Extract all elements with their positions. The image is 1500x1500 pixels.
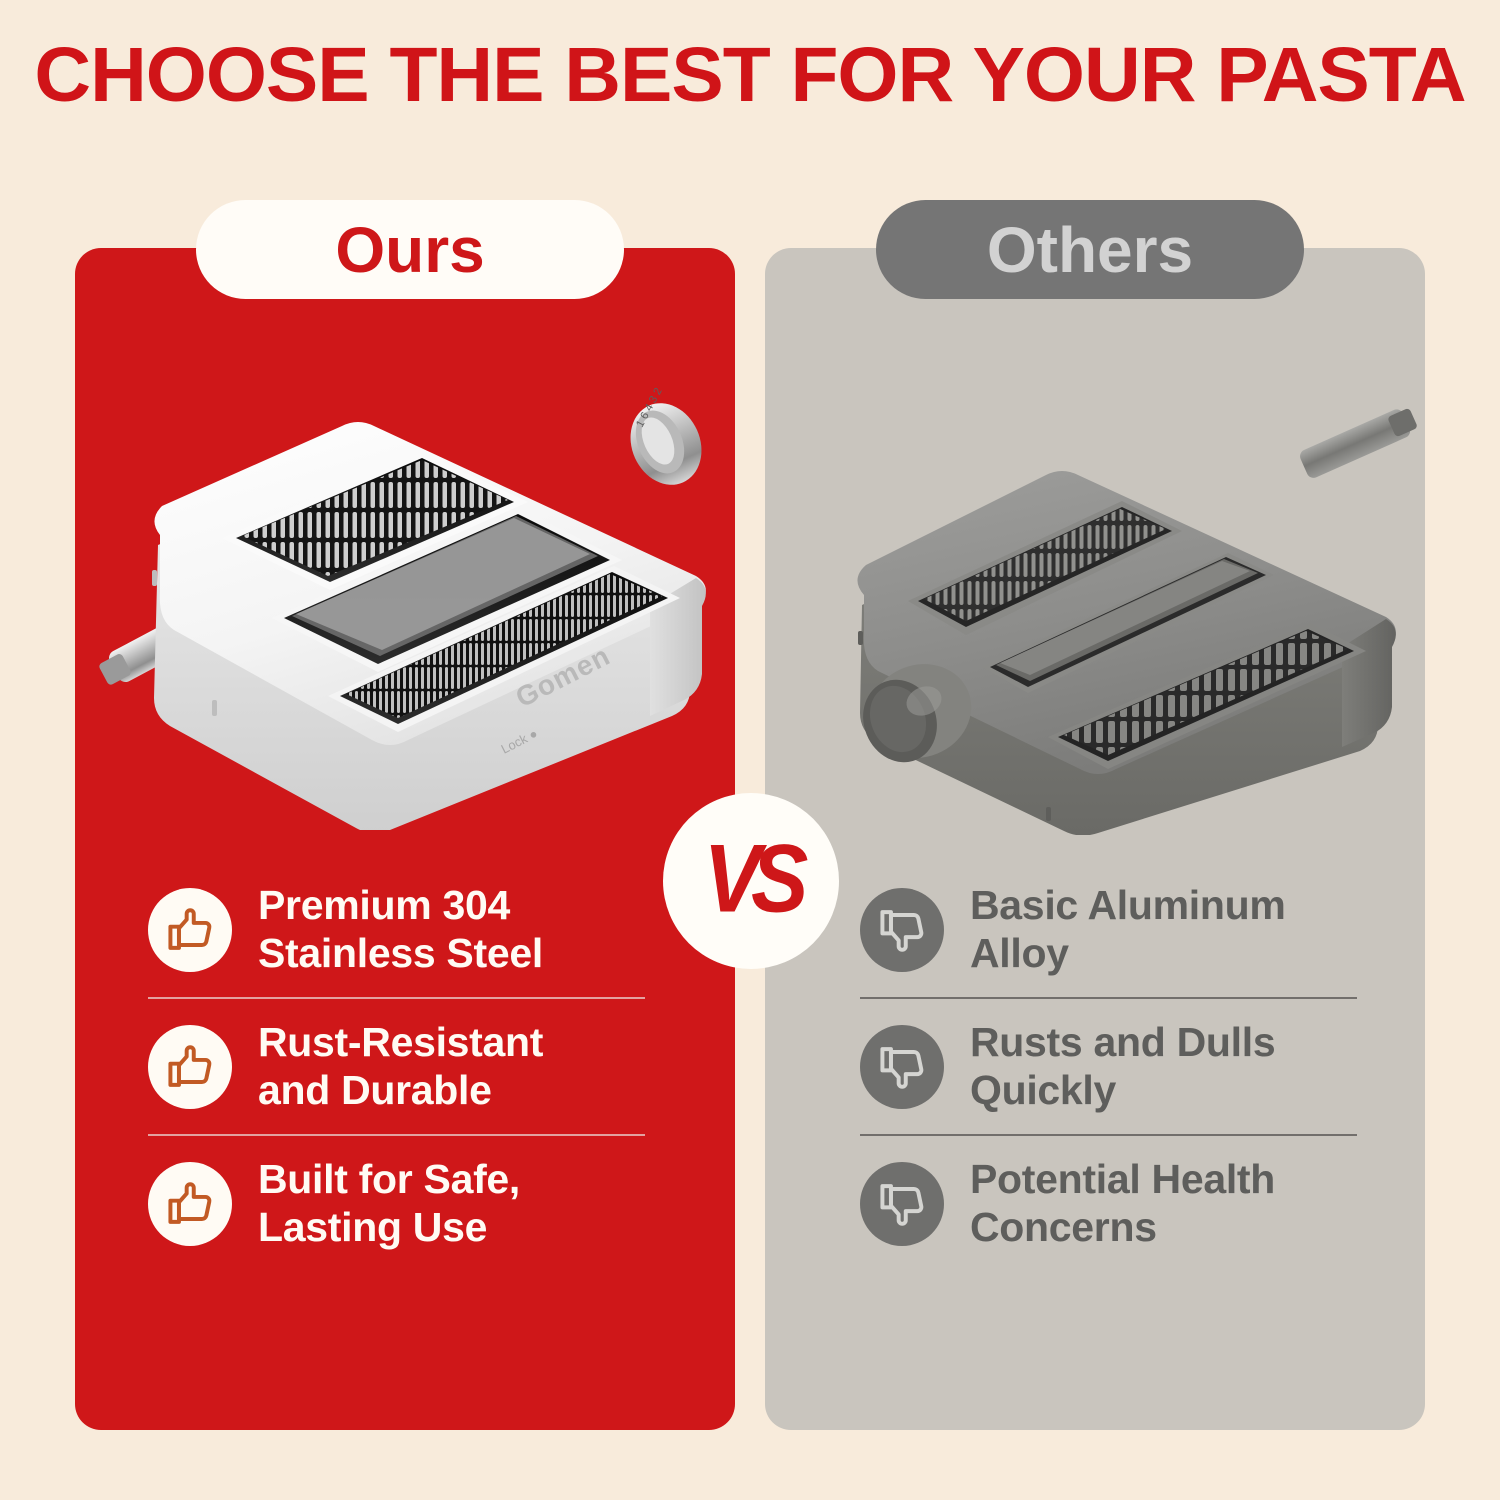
page-title: CHOOSE THE BEST FOR YOUR PASTA	[0, 34, 1500, 117]
others-badge-label: Others	[987, 213, 1193, 287]
feature-row: Premium 304 Stainless Steel	[148, 862, 648, 997]
ours-badge: Ours	[196, 200, 624, 299]
feature-line-2: Stainless Steel	[258, 930, 543, 976]
thumbs-down-icon	[860, 888, 944, 972]
feature-row: Basic Aluminum Alloy	[860, 862, 1370, 997]
feature-divider	[860, 1134, 1357, 1136]
thumbs-up-icon	[148, 888, 232, 972]
feature-divider	[860, 997, 1357, 999]
ours-badge-label: Ours	[335, 213, 484, 287]
feature-line-1: Potential Health	[970, 1156, 1275, 1202]
ours-product-image: 1 6 4 3 2 Gomen Lock ●	[90, 330, 720, 830]
thumbs-up-icon	[148, 1025, 232, 1109]
feature-label: Potential Health Concerns	[970, 1156, 1275, 1251]
feature-line-2: Lasting Use	[258, 1204, 487, 1250]
feature-line-2: Alloy	[970, 930, 1069, 976]
others-product-image	[830, 355, 1430, 835]
feature-label: Basic Aluminum Alloy	[970, 882, 1286, 977]
vs-badge: VS	[663, 793, 839, 969]
feature-label: Premium 304 Stainless Steel	[258, 882, 543, 977]
feature-line-2: Quickly	[970, 1067, 1116, 1113]
feature-line-1: Built for Safe,	[258, 1156, 520, 1202]
feature-divider	[148, 1134, 645, 1136]
feature-line-1: Basic Aluminum	[970, 882, 1286, 928]
feature-line-2: and Durable	[258, 1067, 492, 1113]
feature-line-1: Premium 304	[258, 882, 510, 928]
vs-label: VS	[704, 824, 799, 935]
ours-feature-list: Premium 304 Stainless Steel Rust-Resista…	[148, 862, 648, 1271]
thumbs-up-icon	[148, 1162, 232, 1246]
feature-line-1: Rust-Resistant	[258, 1019, 543, 1065]
thumbs-down-icon	[860, 1162, 944, 1246]
feature-row: Rust-Resistant and Durable	[148, 999, 648, 1134]
feature-line-1: Rusts and Dulls	[970, 1019, 1275, 1065]
others-feature-list: Basic Aluminum Alloy Rusts and Dulls Qui…	[860, 862, 1370, 1271]
feature-label: Rust-Resistant and Durable	[258, 1019, 543, 1114]
feature-row: Built for Safe, Lasting Use	[148, 1136, 648, 1271]
feature-line-2: Concerns	[970, 1204, 1157, 1250]
feature-row: Rusts and Dulls Quickly	[860, 999, 1370, 1134]
feature-label: Built for Safe, Lasting Use	[258, 1156, 520, 1251]
thumbs-down-icon	[860, 1025, 944, 1109]
others-badge: Others	[876, 200, 1304, 299]
feature-divider	[148, 997, 645, 999]
feature-row: Potential Health Concerns	[860, 1136, 1370, 1271]
feature-label: Rusts and Dulls Quickly	[970, 1019, 1275, 1114]
